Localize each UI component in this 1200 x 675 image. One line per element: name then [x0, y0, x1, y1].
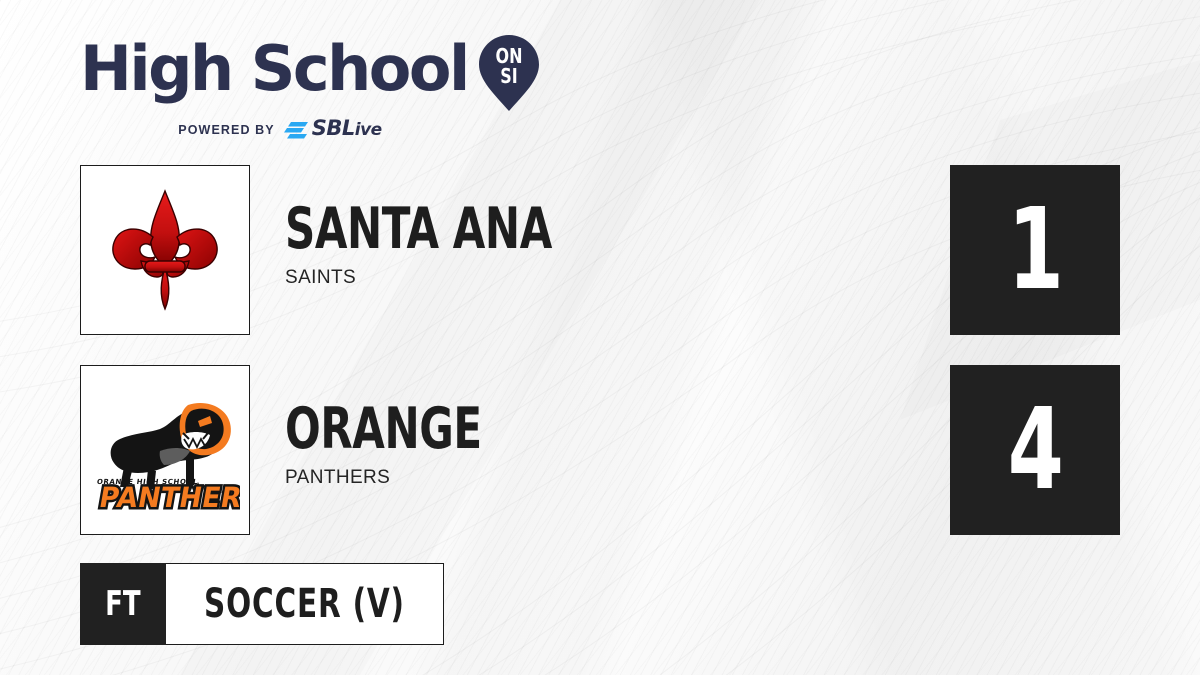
svg-text:SI: SI	[500, 65, 517, 88]
scoreboard-graphic: High School ON SI POWERED BY SBLive	[0, 0, 1200, 675]
team-info-santa-ana: SANTA ANA SAINTS	[285, 200, 610, 289]
team-name: ORANGE	[285, 400, 482, 458]
team-mascot: PANTHERS	[285, 467, 525, 489]
team-mascot: SAINTS	[285, 267, 610, 289]
team-logo-box-orange: ORANGE HIGH SCHOOL PANTHERS PANTHERS	[80, 365, 250, 535]
sblive-wordmark: SBLive	[312, 118, 382, 141]
brand-logo: High School ON SI POWERED BY SBLive	[80, 38, 540, 141]
svg-text:PANTHERS: PANTHERS	[97, 482, 240, 511]
team-name: SANTA ANA	[285, 200, 552, 258]
sport-label: SOCCER (V)	[204, 581, 405, 627]
sblive-arrow-icon	[283, 120, 309, 140]
on-si-pin-icon: ON SI	[478, 34, 540, 112]
logo-wordmark: PANTHERS PANTHERS	[97, 482, 240, 511]
team-logo-box-santa-ana	[80, 165, 250, 335]
powered-by-row: POWERED BY SBLive	[80, 118, 480, 141]
brand-title: High School	[80, 38, 468, 100]
brand-title-row: High School ON SI	[80, 38, 540, 112]
status-badge-label: FT	[105, 584, 141, 624]
status-badge: FT	[80, 563, 166, 645]
sblive-suffix: ive	[355, 120, 382, 140]
sblive-logo: SBLive	[283, 118, 382, 141]
score-value: 4	[1008, 394, 1062, 506]
score-box-orange: 4	[950, 365, 1120, 535]
powered-by-label: POWERED BY	[178, 123, 274, 137]
game-status-bar: FT SOCCER (V)	[80, 563, 444, 645]
score-value: 1	[1008, 194, 1062, 306]
sport-panel: SOCCER (V)	[166, 563, 444, 645]
fleur-de-lis-icon	[105, 185, 225, 315]
team-info-orange: ORANGE PANTHERS	[285, 400, 525, 489]
sblive-main: SBL	[312, 116, 355, 140]
score-box-santa-ana: 1	[950, 165, 1120, 335]
panther-mascot-icon: ORANGE HIGH SCHOOL PANTHERS PANTHERS	[90, 389, 240, 511]
